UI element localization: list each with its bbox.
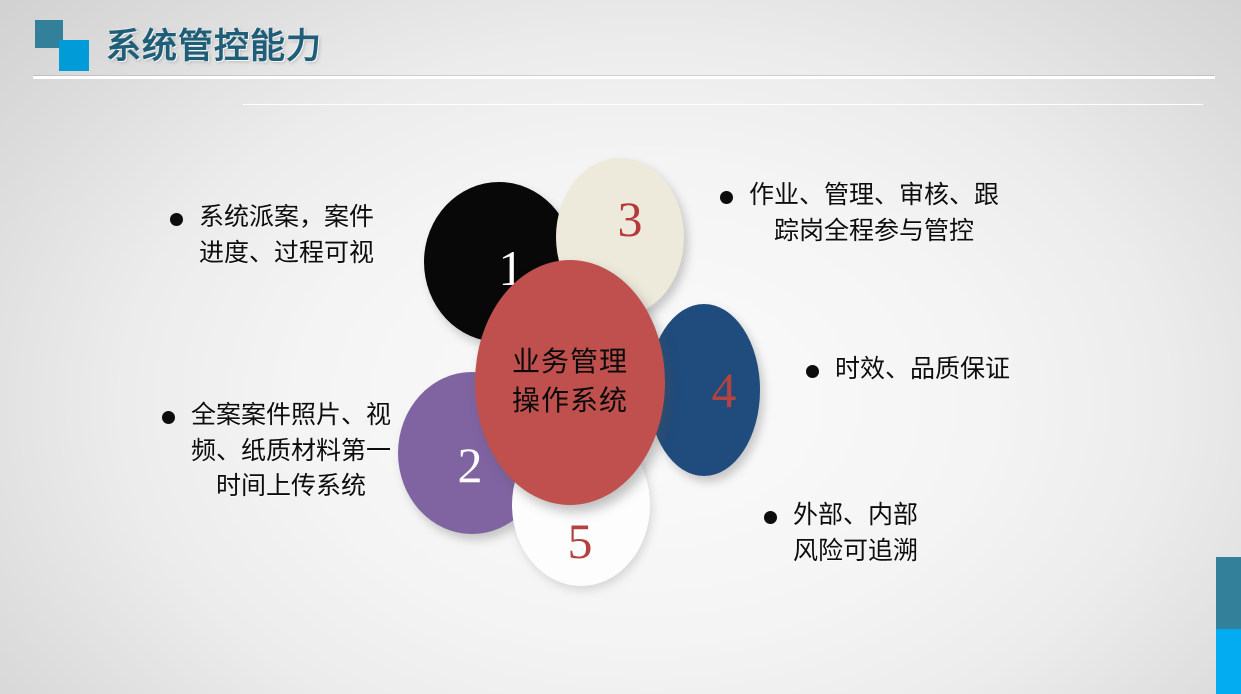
diagram-center-ellipse[interactable]: 业务管理 操作系统 [475,260,665,505]
bullet-text-4: 时效、品质保证 [835,352,1010,388]
bullet-text-5: 外部、内部 风险可追溯 [793,498,918,569]
bullet-item-5: 外部、内部 风险可追溯 [764,498,1004,569]
flower-diagram: 1 3 4 2 5 业务管理 操作系统 [0,0,1241,694]
bullet-text-3: 作业、管理、审核、跟 踪岗全程参与管控 [749,178,999,249]
center-label: 业务管理 操作系统 [512,344,628,421]
bullet-dot-icon [764,511,777,524]
petal-number-4: 4 [712,365,737,415]
bullet-item-4: 时效、品质保证 [806,352,1046,388]
slide-canvas: 系统管控能力 1 3 4 2 5 业务管理 操作系统 系统派案，案件 进度、过程… [0,0,1241,694]
bullet-item-2: 全案案件照片、视 频、纸质材料第一 时间上传系统 [162,398,417,505]
bullet-dot-icon [162,411,175,424]
bullet-text-1: 系统派案，案件 进度、过程可视 [199,200,374,271]
bullet-dot-icon [806,365,819,378]
bullet-dot-icon [170,213,183,226]
bullet-item-3: 作业、管理、审核、跟 踪岗全程参与管控 [720,178,1040,249]
bullet-item-1: 系统派案，案件 进度、过程可视 [170,200,410,271]
petal-number-5: 5 [568,516,593,566]
petal-number-2: 2 [458,440,483,490]
bullet-text-2: 全案案件照片、视 频、纸质材料第一 时间上传系统 [191,398,391,505]
petal-number-3: 3 [618,194,643,244]
bullet-dot-icon [720,191,733,204]
